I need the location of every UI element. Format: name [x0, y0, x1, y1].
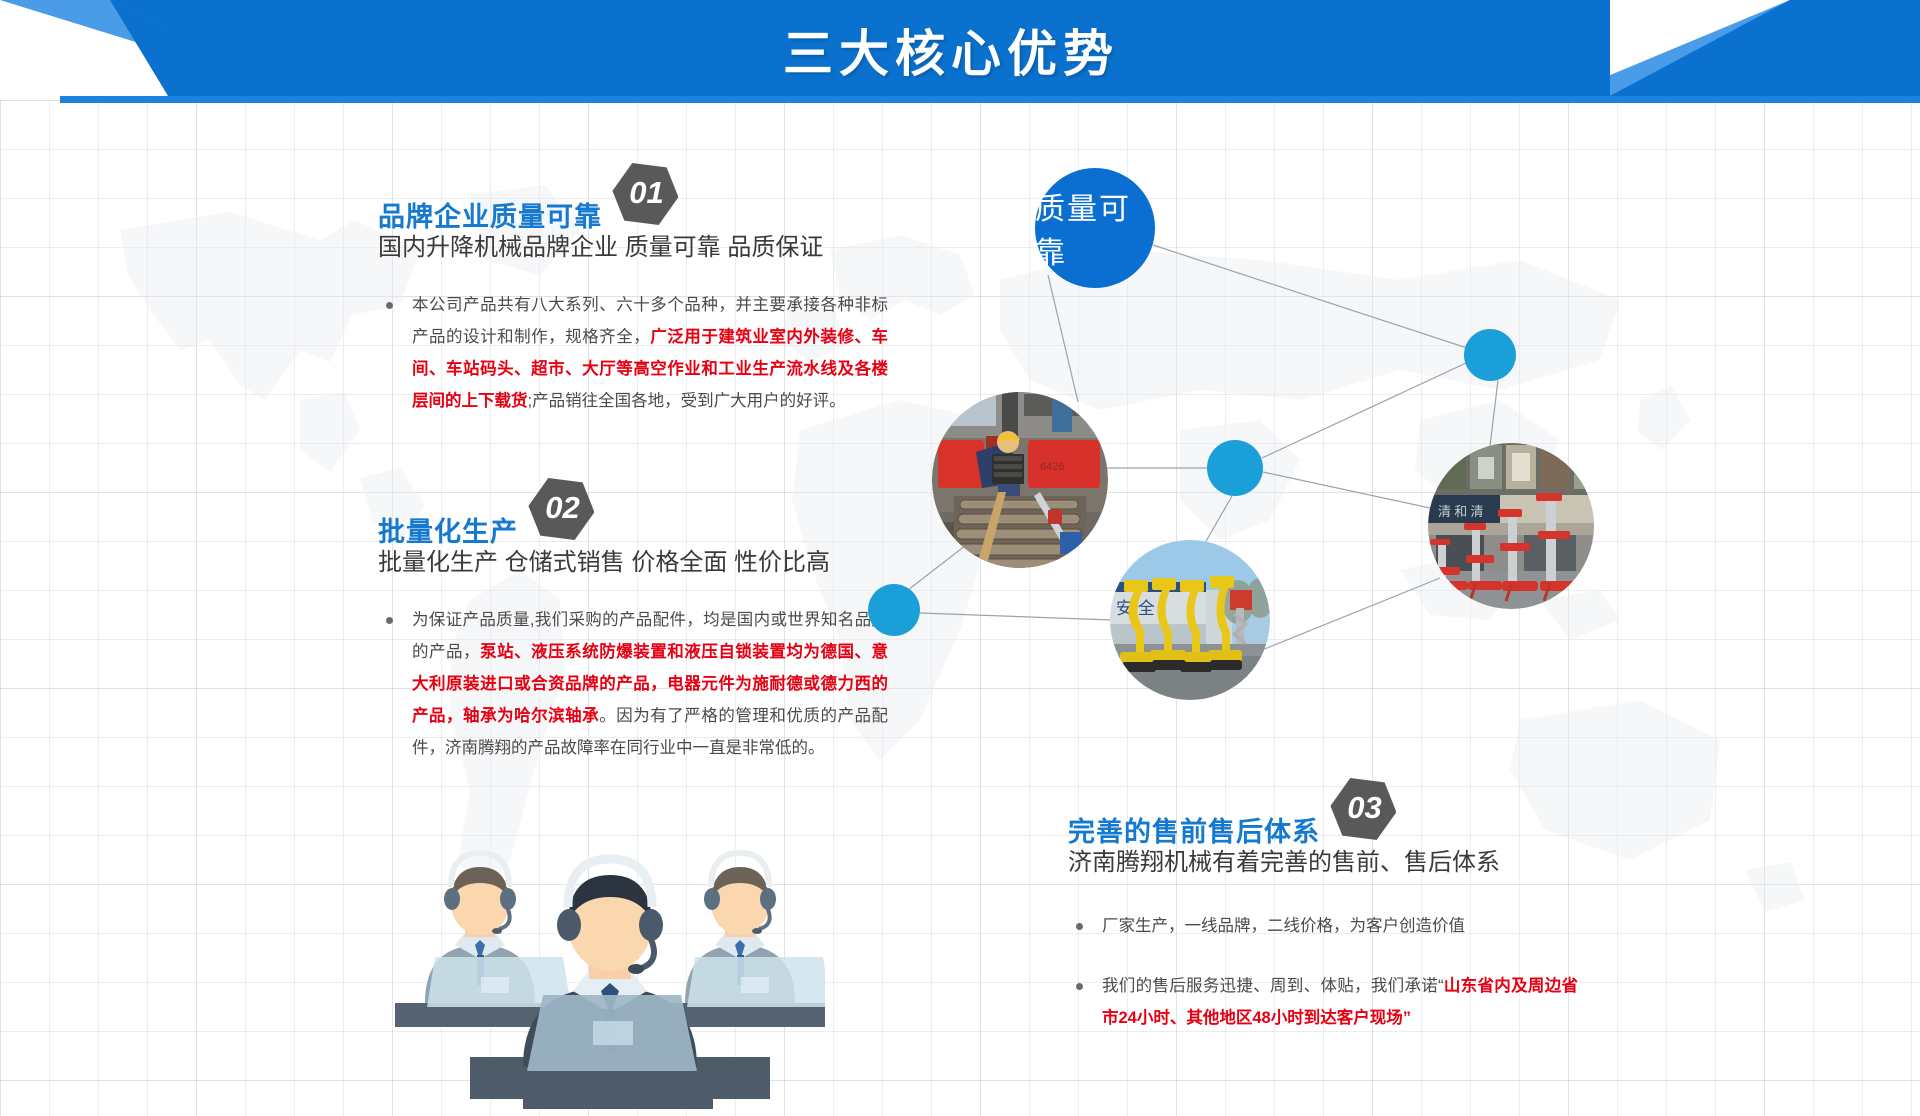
feature-01-bullets: 本公司产品共有八大系列、六十多个品种，并主要承接各种非标产品的设计和制作，规格齐…	[378, 289, 888, 417]
main-node-quality: 质量可靠	[1035, 168, 1155, 288]
main-node-label: 质量可靠	[1035, 184, 1155, 272]
feature-01-number: 01	[612, 163, 678, 225]
feature-03-title: 完善的售前售后体系	[1068, 812, 1320, 852]
feature-01-heading-row: 品牌企业质量可靠 01	[378, 175, 888, 227]
svg-text:清 和 清: 清 和 清	[1438, 504, 1484, 519]
feature-03-bullets: 厂家生产，一线品牌，二线价格，为客户创造价值 我们的售后服务迅捷、周到、体贴，我…	[1068, 910, 1578, 1034]
photo-yellow-boom-lifts: 安 全	[1110, 540, 1270, 700]
feature-03-number-badge: 03	[1330, 778, 1396, 840]
feature-03-number: 03	[1330, 778, 1396, 840]
page-title: 三大核心优势	[0, 0, 1920, 100]
feature-02-number: 02	[528, 478, 594, 540]
network-dot-center	[1207, 440, 1263, 496]
feature-02-number-badge: 02	[528, 478, 594, 540]
list-item: 厂家生产，一线品牌，二线价格，为客户创造价值	[1068, 910, 1578, 942]
feature-02-title: 批量化生产	[378, 512, 518, 552]
feature-02-heading-row: 批量化生产 02	[378, 490, 888, 542]
network-dot-left	[868, 584, 920, 636]
network-diagram: 质量可靠 6426	[850, 150, 1640, 770]
photo-red-aluminum-lifts: 清 和 清	[1428, 443, 1594, 609]
network-dot-right	[1464, 329, 1516, 381]
bullet-text-plain-3: ”	[1403, 1009, 1411, 1027]
slide-root: 三大核心优势 品牌企业质量可靠 01 国内升降机械品牌企业 质量可靠 品质保证 …	[0, 0, 1920, 1116]
feature-01-number-badge: 01	[612, 163, 678, 225]
bullet-text-plain-2: ;产品销往全国各地，受到广大用户的好评。	[528, 392, 846, 410]
feature-01-title: 品牌企业质量可靠	[378, 197, 602, 237]
feature-block-01: 品牌企业质量可靠 01 国内升降机械品牌企业 质量可靠 品质保证 本公司产品共有…	[378, 175, 888, 435]
header-banner: 三大核心优势	[0, 0, 1920, 110]
feature-03-heading-row: 完善的售前售后体系 03	[1068, 790, 1578, 842]
feature-02-bullets: 为保证产品质量,我们采购的产品配件，均是国内或世界知名品牌的产品，泵站、液压系统…	[378, 604, 888, 764]
list-item: 本公司产品共有八大系列、六十多个品种，并主要承接各种非标产品的设计和制作，规格齐…	[378, 289, 888, 417]
bullet-text-plain-2: 我们的售后服务迅捷、周到、体贴，我们承诺“	[1102, 977, 1444, 995]
photo-workshop-cutting-machine: 6426	[932, 392, 1108, 568]
svg-text:6426: 6426	[1040, 461, 1064, 473]
list-item: 我们的售后服务迅捷、周到、体贴，我们承诺“山东省内及周边省市24小时、其他地区4…	[1068, 970, 1578, 1034]
bullet-text-plain-1: 厂家生产，一线品牌，二线价格，为客户创造价值	[1102, 917, 1465, 935]
list-item: 为保证产品质量,我们采购的产品配件，均是国内或世界知名品牌的产品，泵站、液压系统…	[378, 604, 888, 764]
feature-block-02: 批量化生产 02 批量化生产 仓储式销售 价格全面 性价比高 为保证产品质量,我…	[378, 490, 888, 782]
call-center-illustration	[395, 795, 825, 1115]
call-center-graphic	[395, 795, 825, 1115]
feature-block-03: 完善的售前售后体系 03 济南腾翔机械有着完善的售前、售后体系 厂家生产，一线品…	[1068, 790, 1578, 1052]
